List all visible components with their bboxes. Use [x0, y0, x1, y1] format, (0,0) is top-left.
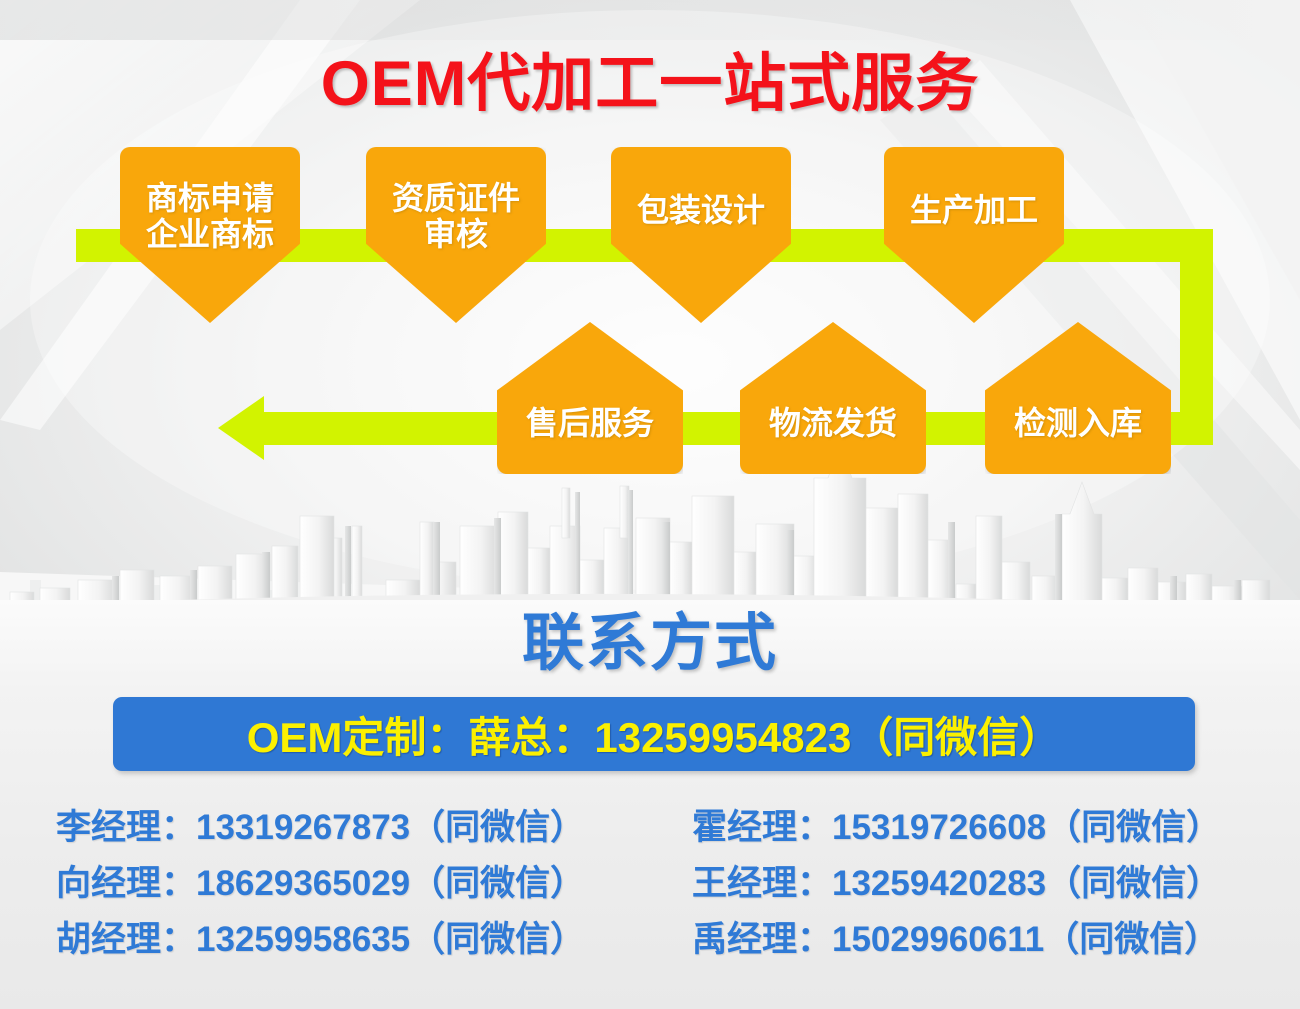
flow-node-label: 售后服务	[526, 406, 654, 442]
contact-list: 李经理：13319267873（同微信） 霍经理：15319726608（同微信…	[0, 800, 1300, 968]
primary-contact-banner[interactable]: OEM定制：薛总：13259954823（同微信）	[113, 697, 1195, 771]
primary-contact-text: OEM定制：薛总：13259954823（同微信）	[247, 704, 1062, 765]
poster-canvas: OEM代加工一站式服务 商标申请 企业商标 资质证件 审核 包装设计 生产加工 …	[0, 0, 1300, 1009]
contact-item[interactable]: 李经理：13319267873（同微信）	[56, 800, 668, 856]
contact-item[interactable]: 胡经理：13259958635（同微信）	[56, 912, 668, 968]
flow-node-label-line2: 企业商标	[146, 217, 274, 253]
flow-node-label-line1: 商标申请	[146, 181, 274, 217]
flow-node-label-line1: 资质证件	[392, 181, 520, 217]
contact-item[interactable]: 向经理：18629365029（同微信）	[56, 856, 668, 912]
flow-node-label: 包装设计	[637, 193, 765, 229]
flow-node-label: 生产加工	[910, 193, 1038, 229]
contact-item[interactable]: 王经理：13259420283（同微信）	[682, 856, 1294, 912]
flow-node-label: 物流发货	[769, 406, 897, 442]
flow-node-label: 检测入库	[1014, 406, 1142, 442]
flow-arrow-left-icon	[218, 396, 264, 460]
contact-item[interactable]: 霍经理：15319726608（同微信）	[682, 800, 1294, 856]
flow-node-label-line2: 审核	[392, 217, 520, 253]
page-title: OEM代加工一站式服务	[0, 33, 1300, 124]
contact-section-heading: 联系方式	[0, 592, 1300, 682]
contact-item[interactable]: 禹经理：15029960611（同微信）	[682, 912, 1294, 968]
